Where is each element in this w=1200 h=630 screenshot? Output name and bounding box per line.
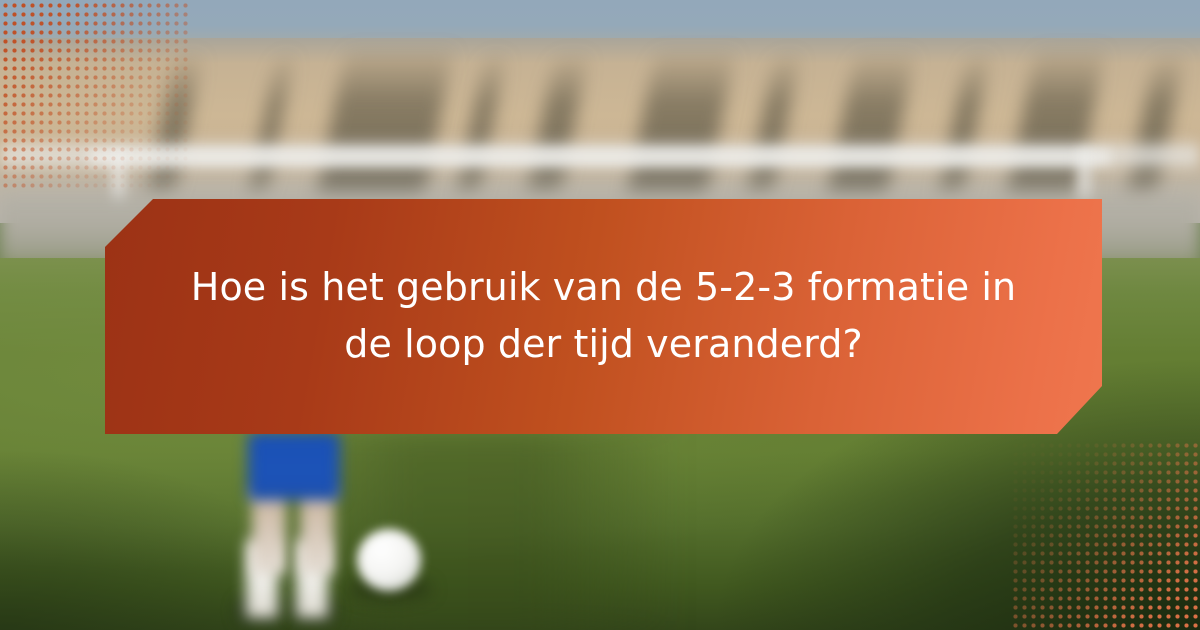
player-leg-left (252, 488, 286, 574)
player-leg-right (300, 488, 334, 574)
soccer-ball (357, 529, 421, 591)
page-title: Hoe is het gebruik van de 5-2-3 formatie… (189, 259, 1019, 375)
player-shorts (248, 432, 340, 500)
headline-banner: Hoe is het gebruik van de 5-2-3 formatie… (105, 199, 1102, 434)
goal-crossbar (90, 150, 1110, 164)
social-card: Hoe is het gebruik van de 5-2-3 formatie… (0, 0, 1200, 630)
